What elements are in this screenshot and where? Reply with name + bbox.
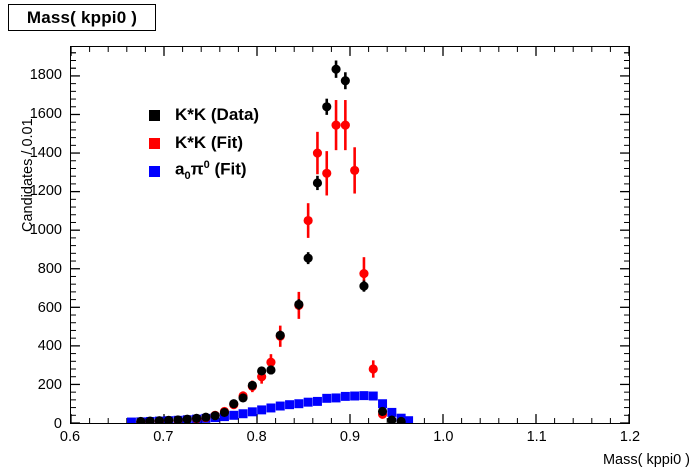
x-tick-label: 0.8 xyxy=(247,429,267,445)
y-tick-label: 1600 xyxy=(0,106,62,122)
y-tick-label: 1200 xyxy=(0,183,62,199)
plot-title-box: Mass( kppi0 ) xyxy=(8,4,156,31)
x-tick-label: 1.0 xyxy=(433,429,453,445)
legend-label-kstark-fit: K*K (Fit) xyxy=(175,133,243,153)
legend-entry-data: K*K (Data) xyxy=(149,101,259,129)
y-tick-label: 600 xyxy=(0,300,62,316)
plot-title-text: Mass( kppi0 ) xyxy=(27,8,137,28)
y-tick-label: 0 xyxy=(0,416,62,432)
y-tick-label: 400 xyxy=(0,338,62,354)
legend: K*K (Data) K*K (Fit) a0π0 (Fit) xyxy=(149,101,259,185)
y-tick-label: 1800 xyxy=(0,67,62,83)
y-tick-label: 1400 xyxy=(0,145,62,161)
legend-label-data: K*K (Data) xyxy=(175,105,259,125)
y-tick-label: 800 xyxy=(0,261,62,277)
legend-entry-kstark-fit: K*K (Fit) xyxy=(149,129,259,157)
x-tick-label: 0.9 xyxy=(340,429,360,445)
legend-marker-data xyxy=(149,110,160,121)
x-axis-title: Mass( kppi0 ) xyxy=(603,452,690,468)
plot-frame: K*K (Data) K*K (Fit) a0π0 (Fit) xyxy=(70,46,630,424)
legend-marker-a0pi0-fit xyxy=(149,166,160,177)
y-tick-label: 200 xyxy=(0,377,62,393)
x-tick-label: 0.7 xyxy=(153,429,173,445)
y-axis-title: Candidates / 0.01 xyxy=(20,118,36,232)
legend-label-a0pi0-fit: a0π0 (Fit) xyxy=(175,159,247,182)
legend-marker-kstark-fit xyxy=(149,138,160,149)
x-tick-label: 1.1 xyxy=(527,429,547,445)
legend-entry-a0pi0-fit: a0π0 (Fit) xyxy=(149,157,259,185)
x-tick-label: 0.6 xyxy=(60,429,80,445)
y-tick-label: 1000 xyxy=(0,222,62,238)
x-tick-label: 1.2 xyxy=(620,429,640,445)
